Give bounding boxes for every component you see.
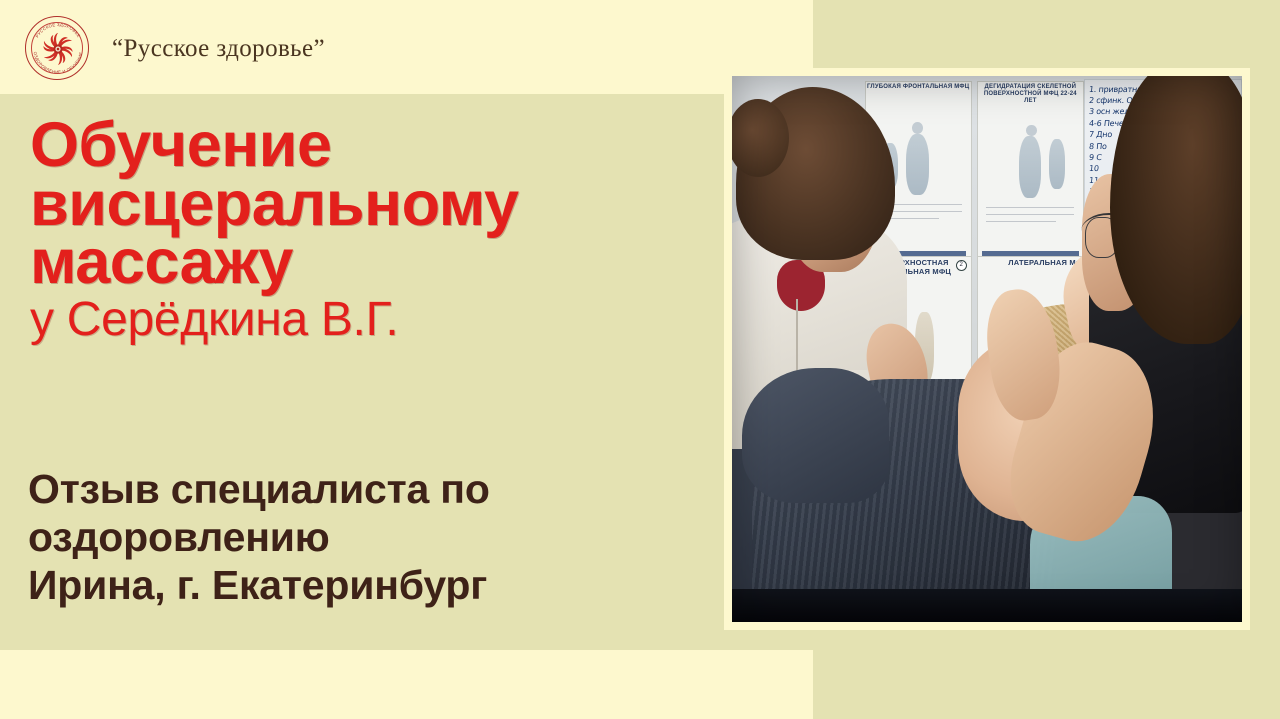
subtitle-line-2: оздоровлению: [28, 514, 708, 562]
massage-table-edge: [732, 589, 1242, 622]
assistant-figure: [1079, 76, 1242, 617]
logo-swirl-mark: [43, 32, 74, 67]
page-title: Обучение висцеральному массажу у Серёдки…: [30, 116, 730, 345]
headline-line-4: у Серёдкина В.Г.: [30, 296, 730, 345]
poster-badge: 2: [956, 260, 967, 271]
photo-frame: ГЛУБОКАЯ ФРОНТАЛЬНАЯ МФЦ ДЕГИДРАТАЦИЯ СК…: [724, 68, 1250, 630]
subtitle-block: Отзыв специалиста по оздоровлению Ирина,…: [28, 466, 708, 610]
client-knee: [742, 368, 889, 504]
sun-swirl-emblem-icon: РУССКОЕ ЗДОРОВЬЕ ОЗДОРОВЛЕНИЕ И ОБУЧЕНИЕ: [22, 13, 94, 85]
headline-line-1: Обучение: [30, 116, 730, 175]
slide-canvas: РУССКОЕ ЗДОРОВЬЕ ОЗДОРОВЛЕНИЕ И ОБУЧЕНИЕ: [0, 0, 1280, 719]
anatomy-poster-top-2: ДЕГИДРАТАЦИЯ СКЕЛЕТНОЙ ПОВЕРХНОСТНОЙ МФЦ…: [977, 81, 1084, 261]
training-photo: ГЛУБОКАЯ ФРОНТАЛЬНАЯ МФЦ ДЕГИДРАТАЦИЯ СК…: [732, 76, 1242, 622]
brand-title: “Русское здоровье”: [112, 35, 325, 63]
logo-ring-text-top: РУССКОЕ ЗДОРОВЬЕ: [34, 22, 81, 38]
poster-caption: ДЕГИДРАТАЦИЯ СКЕЛЕТНОЙ ПОВЕРХНОСТНОЙ МФЦ…: [978, 82, 1083, 105]
brand-header: РУССКОЕ ЗДОРОВЬЕ ОЗДОРОВЛЕНИЕ И ОБУЧЕНИЕ: [22, 14, 325, 84]
logo-ring-text-bottom: ОЗДОРОВЛЕНИЕ И ОБУЧЕНИЕ: [33, 51, 84, 74]
background-panel-right-bottom: [813, 650, 1280, 719]
subtitle-line-1: Отзыв специалиста по: [28, 466, 708, 514]
subtitle-line-3: Ирина, г. Екатеринбург: [28, 562, 708, 610]
headline-line-3: массажу: [30, 233, 730, 292]
headline-line-2: висцеральному: [30, 175, 730, 234]
background-panel-bottom-left: [0, 650, 813, 719]
